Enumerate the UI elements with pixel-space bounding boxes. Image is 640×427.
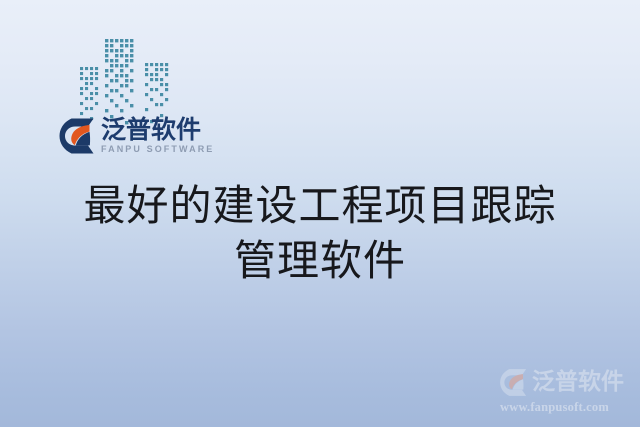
watermark: 泛普软件 www.fanpusoft.com: [498, 366, 640, 418]
watermark-fanpu-logo-mark-icon: [498, 368, 529, 397]
headline-line-1: 最好的建设工程项目跟踪: [0, 178, 640, 233]
headline: 最好的建设工程项目跟踪 管理软件: [0, 178, 640, 288]
fanpu-logo-mark-icon: [58, 117, 96, 155]
brand-name-en: FANPU SOFTWARE: [101, 144, 214, 155]
pixelated-city-buildings-graphic: [78, 36, 208, 126]
headline-line-2: 管理软件: [0, 233, 640, 288]
brand-lockup: 泛普软件 FANPU SOFTWARE: [58, 117, 214, 155]
brand-name-cn: 泛普软件: [101, 117, 214, 143]
watermark-logo-row: 泛普软件: [498, 366, 640, 399]
watermark-url: www.fanpusoft.com: [500, 400, 640, 414]
watermark-name-cn: 泛普软件: [532, 370, 624, 395]
slide-canvas: 泛普软件 FANPU SOFTWARE 最好的建设工程项目跟踪 管理软件 泛普软…: [0, 0, 640, 427]
